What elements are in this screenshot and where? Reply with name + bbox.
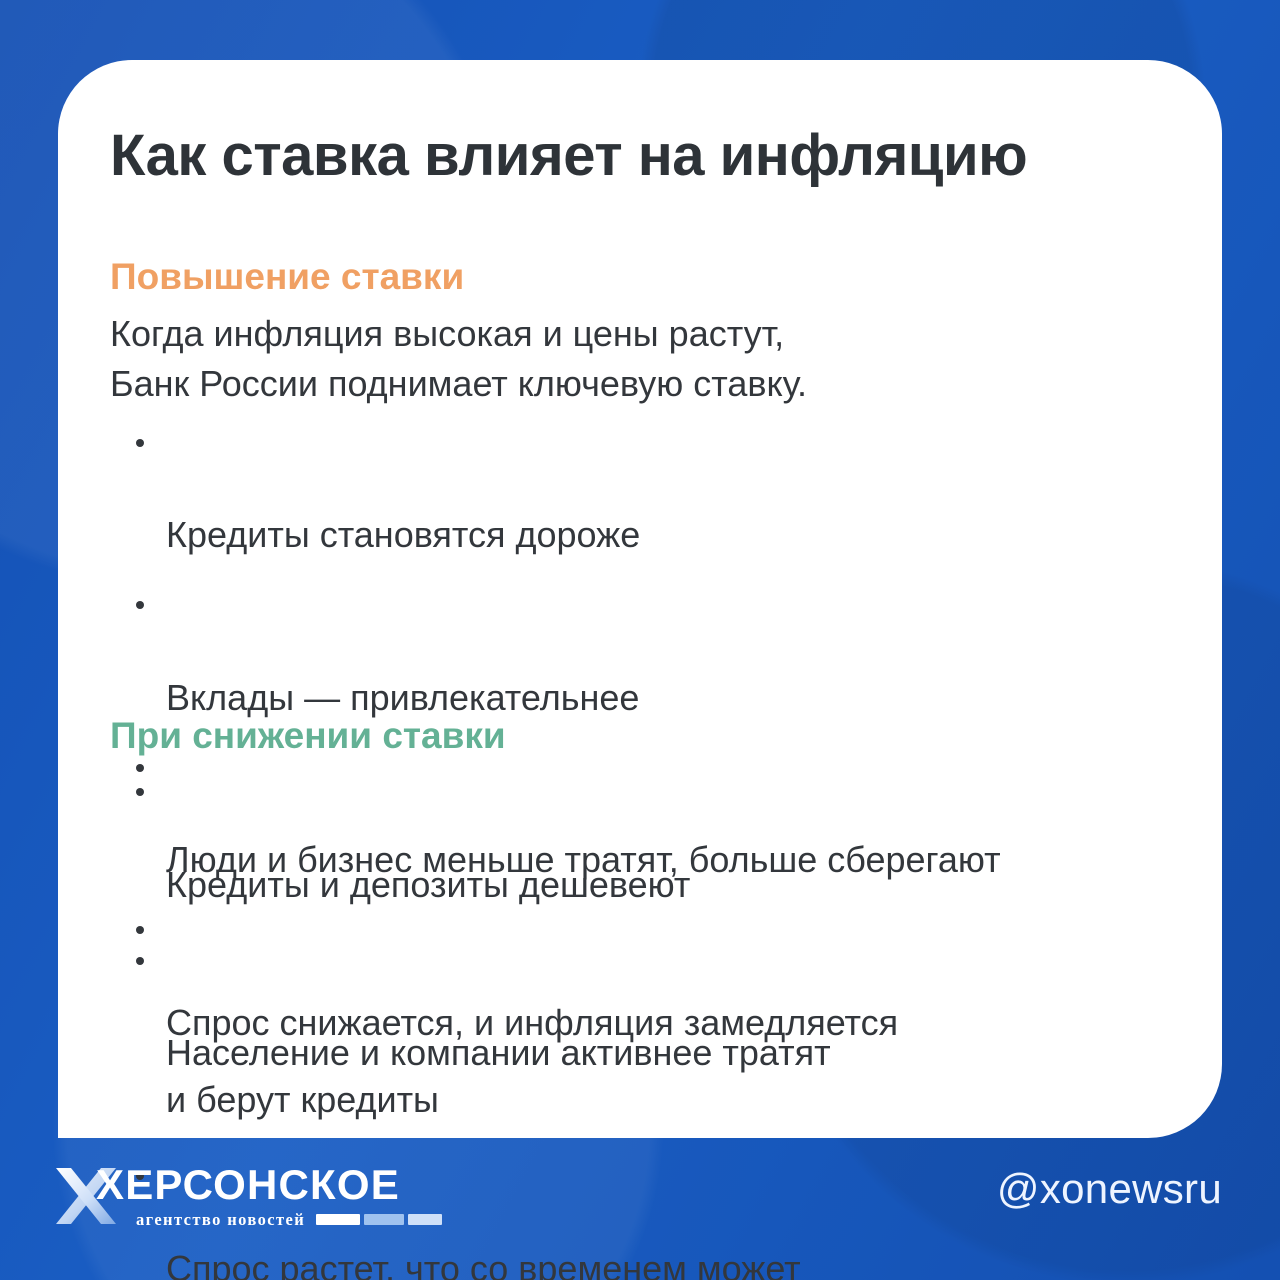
list-item: Вклады — привлекательнее (110, 581, 1182, 721)
page-title: Как ставка влияет на инфляцию (110, 122, 1027, 189)
bullet-dot-icon (136, 957, 144, 965)
brand-name: ХЕРСОНСКОЕ (96, 1164, 400, 1206)
section-intro-increase: Когда инфляция высокая и цены растут, Ба… (110, 309, 1182, 408)
bullet-dot-icon (136, 601, 144, 609)
brand-logo: ХЕРСОНСКОЕ агентство новостей (54, 1160, 374, 1238)
list-item-text: Вклады — привлекательнее (166, 677, 639, 718)
logo-bar-3 (408, 1214, 442, 1225)
logo-bar-1 (316, 1214, 360, 1225)
list-item: Кредиты становятся дороже (110, 419, 1182, 559)
brand-tagline: агентство новостей (136, 1212, 305, 1229)
bullet-dot-icon (136, 788, 144, 796)
content-card: Как ставка влияет на инфляцию Повышение … (58, 60, 1222, 1138)
list-item-text: Кредиты становятся дороже (166, 514, 640, 555)
list-item-text: Кредиты и депозиты дешевеют (166, 864, 690, 905)
infographic-canvas: Как ставка влияет на инфляцию Повышение … (0, 0, 1280, 1280)
logo-bars-decoration (316, 1214, 442, 1225)
list-item: Кредиты и депозиты дешевеют (110, 768, 1182, 908)
list-item: Население и компании активнее тратят и б… (110, 937, 1182, 1124)
section-heading-decrease: При снижении ставки (110, 715, 1182, 756)
bullet-dot-icon (136, 439, 144, 447)
footer: ХЕРСОНСКОЕ агентство новостей @xonewsru (0, 1138, 1280, 1280)
list-item-text: Население и компании активнее тратят и б… (166, 1032, 831, 1120)
section-heading-increase: Повышение ставки (110, 256, 1182, 297)
social-handle: @xonewsru (997, 1164, 1222, 1214)
logo-bar-2 (364, 1214, 404, 1225)
